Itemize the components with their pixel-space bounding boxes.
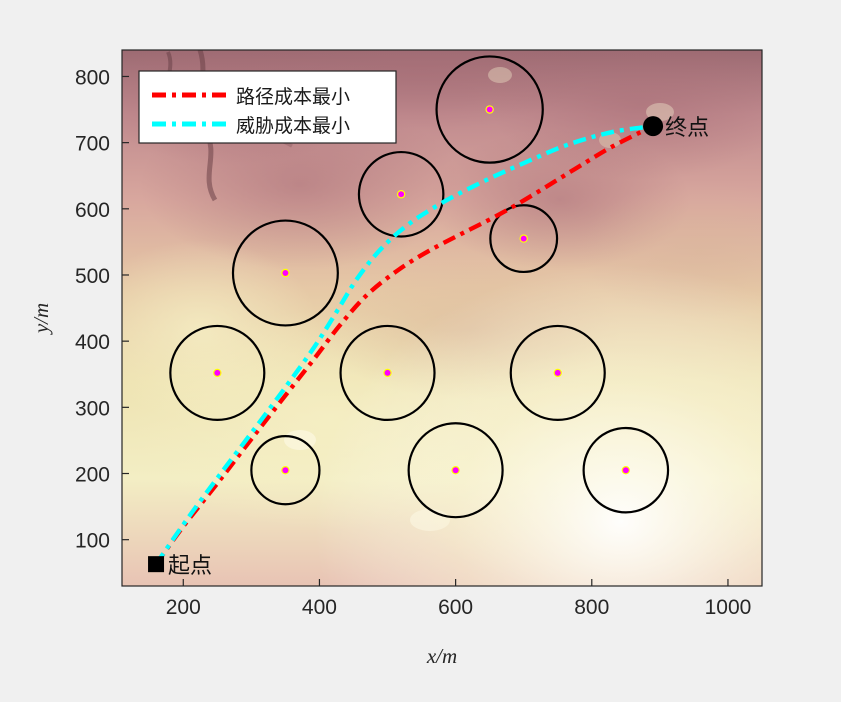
threat-center-dot [487,107,493,113]
threat-center-dot [453,467,459,473]
threat-center-dot [214,370,220,376]
y-axis-title: y/m [29,303,53,335]
legend-label-path-cost: 路径成本最小 [236,86,350,108]
y-tick-label: 700 [75,133,110,156]
threat-center-dot [521,236,527,242]
x-tick-label: 1000 [705,596,752,619]
x-tick-label: 800 [574,596,609,619]
threat-center-dot [282,467,288,473]
y-tick-label: 200 [75,464,110,487]
end-circle-icon [643,116,663,136]
start-square-icon [148,556,164,572]
start-label: 起点 [168,553,212,578]
x-tick-label: 400 [302,596,337,619]
end-label: 终点 [665,115,709,140]
y-tick-label: 500 [75,265,110,288]
threat-center-dot [282,270,288,276]
legend: 路径成本最小 威胁成本最小 [139,71,396,143]
threat-center-dot [555,370,561,376]
threat-center-dot [398,191,404,197]
x-tick-label: 200 [166,596,201,619]
y-tick-label: 600 [75,199,110,222]
y-tick-label: 100 [75,530,110,553]
figure-panel: 起点终点 20040060080010001002003004005006007… [0,0,841,702]
y-tick-label: 400 [75,331,110,354]
x-tick-label: 600 [438,596,473,619]
path-planning-chart: 起点终点 20040060080010001002003004005006007… [0,0,841,702]
y-tick-label: 800 [75,66,110,89]
legend-label-threat-cost: 威胁成本最小 [236,115,350,137]
threat-center-dot [623,467,629,473]
threat-center-dot [385,370,391,376]
x-axis-title: x/m [426,644,457,668]
y-tick-label: 300 [75,397,110,420]
